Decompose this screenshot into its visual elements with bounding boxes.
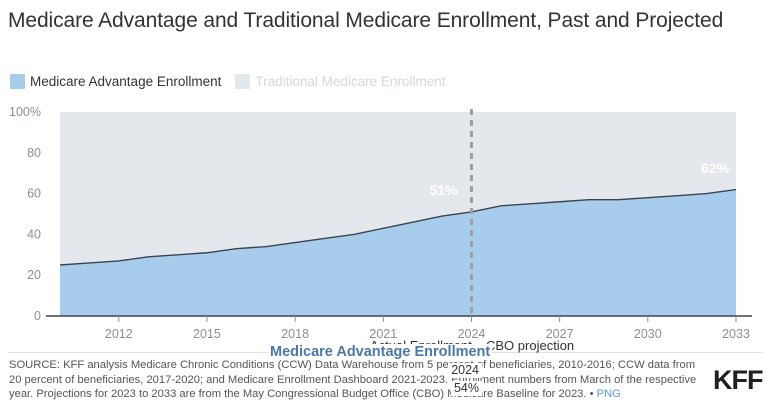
callout-value-2024: 51% <box>429 182 457 198</box>
source-text: SOURCE: KFF analysis Medicare Chronic Co… <box>9 359 696 400</box>
legend-item-medicare-advantage[interactable]: Medicare Advantage Enrollment <box>10 74 221 89</box>
legend-swatch-medicare-advantage <box>10 74 25 89</box>
chart-legend: Medicare Advantage Enrollment Traditiona… <box>10 74 459 89</box>
x-axis-tick-label: 2033 <box>722 327 750 341</box>
x-axis-tick-label: 2012 <box>105 327 133 341</box>
x-axis-tick-label: 2015 <box>193 327 221 341</box>
chart-svg: 020406080100% 20122015201820212024202720… <box>0 100 771 345</box>
y-axis-tick-label: 80 <box>27 146 41 160</box>
y-axis-tick-label: 100% <box>9 105 41 119</box>
plot-area[interactable]: 020406080100% 20122015201820212024202720… <box>0 100 771 345</box>
annotation-cbo-projection: CBO projection <box>486 338 574 353</box>
chart-page: Medicare Advantage and Traditional Medic… <box>0 0 771 407</box>
legend-swatch-traditional-medicare <box>235 74 250 89</box>
page-title: Medicare Advantage and Traditional Medic… <box>8 6 753 35</box>
y-axis-ticks: 020406080100% <box>9 105 41 323</box>
callout-value-2033: 62% <box>701 160 729 176</box>
x-axis-tick-label: 2030 <box>634 327 662 341</box>
area-series-group <box>60 112 736 316</box>
y-axis-tick-label: 60 <box>27 187 41 201</box>
source-note: SOURCE: KFF analysis Medicare Chronic Co… <box>9 358 699 402</box>
x-axis-tick-label: 2018 <box>281 327 309 341</box>
legend-label-medicare-advantage: Medicare Advantage Enrollment <box>30 74 221 89</box>
legend-label-traditional-medicare: Traditional Medicare Enrollment <box>255 74 445 89</box>
y-axis-tick-label: 20 <box>27 268 41 282</box>
y-axis-tick-label: 0 <box>34 309 41 323</box>
legend-item-traditional-medicare[interactable]: Traditional Medicare Enrollment <box>235 74 445 89</box>
y-axis-tick-label: 40 <box>27 227 41 241</box>
annotation-actual-enrollment: Actual Enrollment <box>370 338 472 353</box>
kff-logo: KFF <box>713 365 762 396</box>
png-download-link[interactable]: PNG <box>597 388 621 400</box>
